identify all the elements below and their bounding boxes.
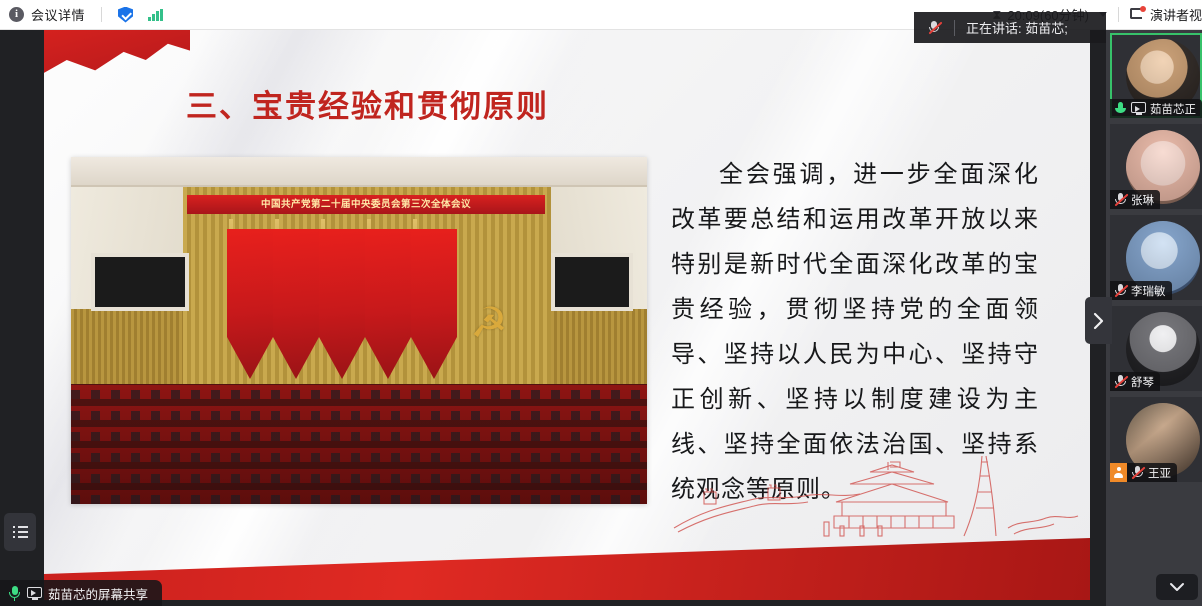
conference-hall-photo: 中国共产党第二十届中央委员会第三次全体会议 ☭ [71,157,647,504]
red-flags: ☭ [201,219,531,381]
scroll-down-button[interactable] [1156,574,1198,600]
currently-speaking-banner: 正在讲话: 茹苗芯; [914,12,1106,43]
microphone-muted-icon [1131,466,1144,480]
presenter-view-label: 演讲者视图 [1150,5,1202,24]
screen-share-indicator: 茹苗芯的屏幕共享 [0,580,162,606]
meeting-window: i 会议详情 ⧗ 20:09(60分钟) 演讲者视图 [0,0,1202,606]
slide-title: 三、宝贵经验和贯彻原则 [186,81,549,126]
participant-tile[interactable]: 张琳 [1110,124,1202,209]
presentation-slide: 三、宝贵经验和贯彻原则 中国共产党第二十届中央委员会第三次全体会议 [44,30,1090,600]
signal-strength-icon[interactable] [148,9,163,21]
top-bar-left: i 会议详情 [0,5,163,24]
presenter-view-icon [1130,7,1145,22]
chevron-right-icon [1092,312,1105,330]
participant-tile[interactable]: 王亚 [1110,397,1202,482]
divider [1118,7,1119,22]
microphone-muted-icon [928,21,941,35]
currently-speaking-label: 正在讲话: 茹苗芯; [955,18,1068,37]
info-icon[interactable]: i [9,7,24,22]
photo-banner-text: 中国共产党第二十届中央委员会第三次全体会议 [187,195,545,214]
chevron-down-icon [1169,582,1185,592]
screen-share-label: 茹苗芯的屏幕共享 [48,584,148,603]
microphone-muted-icon [1114,375,1127,389]
participant-namebar: 舒琴 [1110,372,1160,391]
participant-tile[interactable]: 舒琴 [1110,306,1202,391]
participant-tiles: 茹苗芯正 张琳 李瑞敏 [1110,30,1202,606]
microphone-on-icon [8,586,21,601]
party-emblem-icon: ☭ [463,297,515,349]
screen-share-icon [1131,102,1146,115]
microphone-muted-icon [1114,284,1127,298]
presenter-view-button[interactable]: 演讲者视图 [1130,5,1202,24]
participant-name: 茹苗芯正 [1150,101,1196,117]
participant-tile[interactable]: 李瑞敏 [1110,215,1202,300]
divider [101,7,102,22]
participant-name: 李瑞敏 [1131,283,1166,299]
participant-name: 舒琴 [1131,374,1154,390]
participant-namebar: 李瑞敏 [1110,281,1172,300]
shared-screen-area[interactable]: 三、宝贵经验和贯彻原则 中国共产党第二十届中央委员会第三次全体会议 [0,30,1106,606]
participant-name: 张琳 [1131,192,1154,208]
screen-share-icon [27,587,42,600]
participant-namebar: 王亚 [1110,463,1177,482]
red-band-front [44,538,1090,600]
host-badge [1110,463,1127,482]
next-slide-button[interactable] [1085,297,1112,344]
microphone-on-icon [1114,102,1127,116]
participant-name: 王亚 [1148,465,1171,481]
participant-namebar: 茹苗芯正 [1110,99,1202,118]
audience-seating [71,384,647,504]
microphone-muted-icon [1114,193,1127,207]
shield-check-icon[interactable] [118,7,133,23]
meeting-details-label[interactable]: 会议详情 [31,5,85,24]
participant-namebar: 张琳 [1110,190,1160,209]
participant-tile[interactable]: 茹苗芯正 [1110,33,1202,118]
participant-sidebar[interactable]: 茹苗芯正 张琳 李瑞敏 [1106,30,1202,606]
slide-body-text: 全会强调，进一步全面深化改革要总结和运用改革开放以来特别是新时代全面深化改革的宝… [671,152,1039,512]
red-ribbon-decoration [44,30,190,82]
list-view-button[interactable] [4,513,36,551]
